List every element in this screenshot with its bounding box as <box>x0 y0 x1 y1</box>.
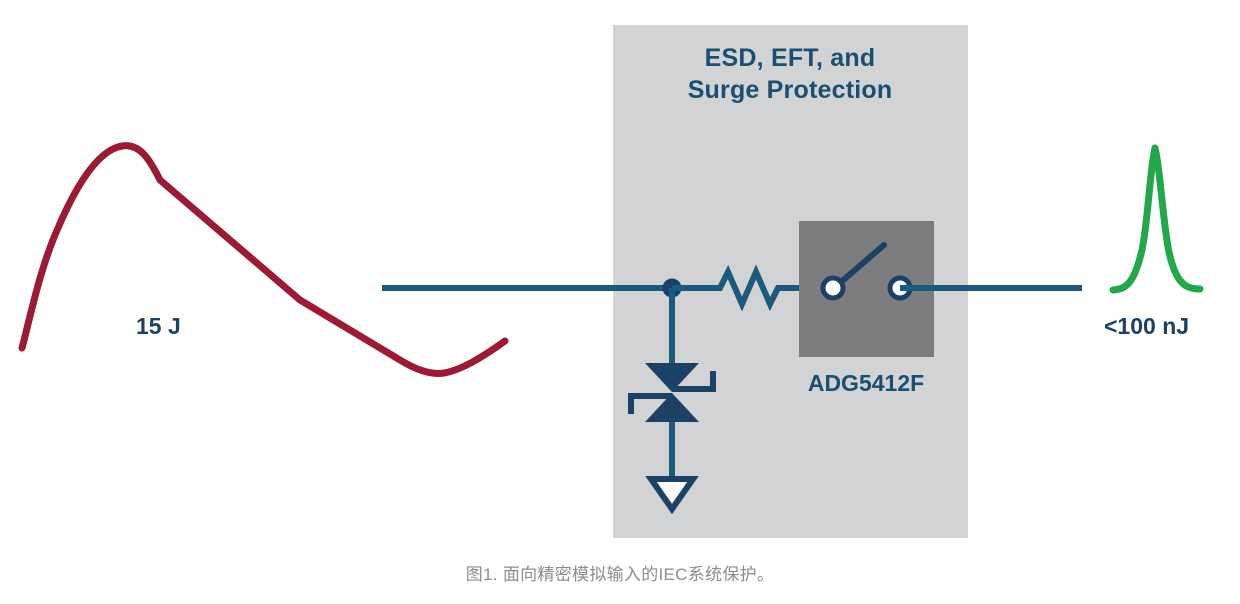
figure-caption: 图1. 面向精密模拟输入的IEC系统保护。 <box>0 560 1240 585</box>
input-energy-label: 15 J <box>136 313 181 339</box>
input-surge-waveform <box>22 146 505 374</box>
output-energy-label: <100 nJ <box>1104 313 1189 339</box>
protection-panel-title-line2: Surge Protection <box>688 76 893 104</box>
circuit-diagram: ESD, EFT, and Surge Protection 15 J <box>0 0 1240 604</box>
switch-part-label: ADG5412F <box>808 370 924 396</box>
protection-panel-title-line1: ESD, EFT, and <box>705 44 876 72</box>
output-pulse-waveform <box>1113 148 1200 290</box>
switch-terminal-left <box>823 278 843 298</box>
figure-root: ESD, EFT, and Surge Protection 15 J <box>0 0 1240 604</box>
